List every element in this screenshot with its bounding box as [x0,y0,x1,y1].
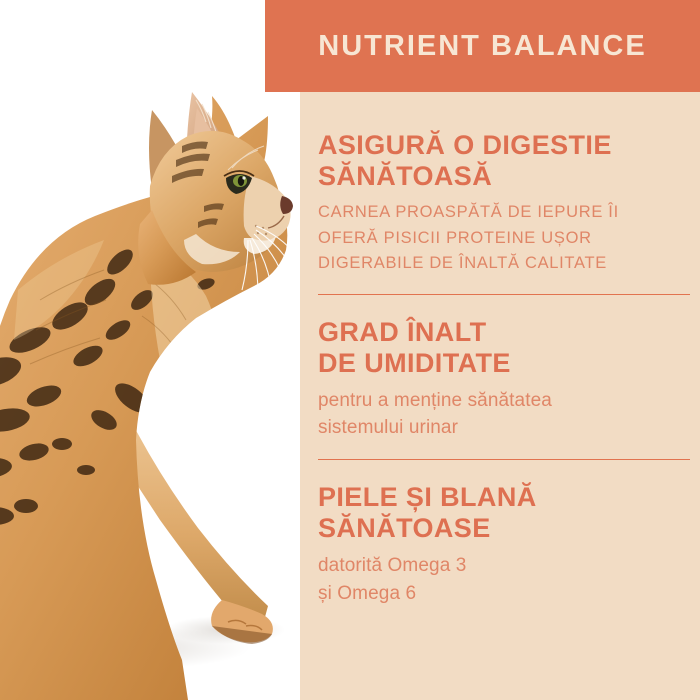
nutrient-balance-poster: NUTRIENT BALANCE ASIGURĂ O DIGESTIE SĂNĂ… [0,0,700,700]
benefit-heading: ASIGURĂ O DIGESTIE SĂNĂTOASĂ [318,130,690,192]
benefit-body: pentru a menține sănătatea sistemului ur… [318,387,690,442]
benefit-heading: PIELE ȘI BLANĂ SĂNĂTOASE [318,482,690,544]
cat-photo [0,0,300,700]
benefit-heading: GRAD ÎNALT DE UMIDITATE [318,317,690,379]
benefit-section-moisture: GRAD ÎNALT DE UMIDITATE pentru a menține… [318,317,690,442]
benefit-section-digestion: ASIGURĂ O DIGESTIE SĂNĂTOASĂ CARNEA PROA… [318,130,690,277]
benefits-list: ASIGURĂ O DIGESTIE SĂNĂTOASĂ CARNEA PROA… [318,130,690,607]
benefit-body: datorită Omega 3 și Omega 6 [318,552,690,607]
cat-illustration [0,0,300,700]
section-divider [318,294,690,295]
page-title: NUTRIENT BALANCE [318,30,646,63]
header-banner: NUTRIENT BALANCE [265,0,700,92]
benefit-section-skin-coat: PIELE ȘI BLANĂ SĂNĂTOASE datorită Omega … [318,482,690,607]
benefit-body: CARNEA PROASPĂTĂ DE IEPURE ÎI OFERĂ PISI… [318,200,690,277]
section-divider [318,459,690,460]
